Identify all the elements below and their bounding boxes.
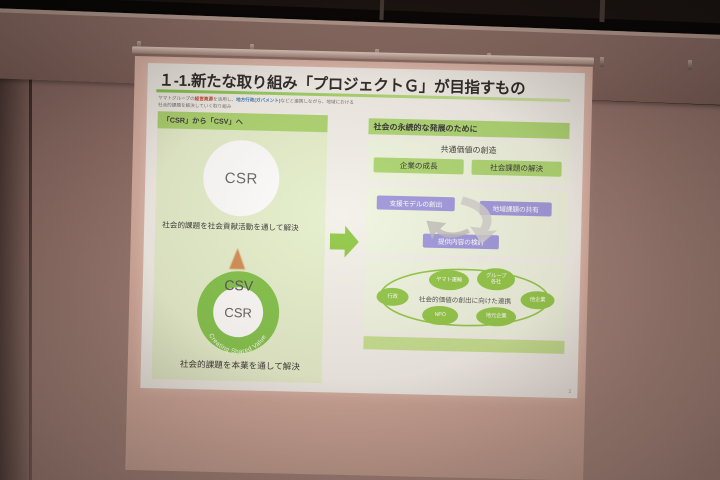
wall-seam — [29, 52, 32, 480]
network-node: NPO — [422, 306, 458, 326]
chip-corporate-growth: 企業の成長 — [373, 157, 463, 174]
csr-caption: 社会的課題を社会貢献活動を通して解決 — [162, 219, 322, 234]
csr-circle: CSR — [202, 139, 280, 217]
network-node: 他企業 — [520, 291, 554, 310]
projected-slide: １-1.新たな取り組み「プロジェクトＧ」が目指すもの ヤマトグループの経営資源を… — [140, 63, 585, 398]
csv-caption: 社会的課題を本業を通して解決 — [159, 357, 321, 373]
slide-lead-text: ヤマトグループの経営資源を活用し、地方行政(ガバメント)などと連携しながら、地域… — [158, 94, 354, 113]
process-box-regional-issues: 地域課題の共有 — [480, 201, 552, 217]
rail-clip — [688, 60, 692, 70]
process-box-service-review: 提供内容の検討 — [423, 234, 499, 250]
green-right-arrow-icon — [329, 224, 359, 259]
upward-arrow-icon — [229, 248, 245, 269]
network-nodes-layer: 社会的価値の創出に向けた連携 ヤマト運輸グループ各社行政他企業NPO地元企業 — [364, 259, 567, 337]
right-panel-footer-bar — [363, 336, 564, 354]
lead-text-part1: ヤマトグループの — [158, 95, 195, 101]
shared-value-title: 共通価値の創造 — [368, 142, 569, 158]
process-box-support-model: 支援モデルの創出 — [377, 195, 455, 211]
network-node: ヤマト運輸 — [429, 270, 469, 291]
rail-clip — [600, 57, 604, 67]
process-cycle-box: 支援モデルの創出 地域課題の共有 提供内容の検討 — [366, 186, 569, 258]
lead-text-highlight-1: 経営資源 — [195, 96, 214, 101]
left-panel-header: 「CSR」から「CSV」へ — [157, 111, 327, 132]
csr-to-csv-panel: 「CSR」から「CSV」へ CSR 社会的課題を社会貢献活動を通して解決 CSV… — [152, 111, 328, 383]
chip-social-issue-solution: 社会課題の解決 — [471, 160, 561, 177]
network-node: グループ各社 — [477, 268, 516, 291]
network-node: 行政 — [376, 287, 408, 306]
slide-page-number: 2 — [569, 389, 572, 395]
shared-value-creation-box: 共通価値の創造 企業の成長 社会課題の解決 — [367, 138, 569, 185]
svg-text:Creating Shared Value: Creating Shared Value — [207, 332, 268, 354]
conference-room-scene: １-1.新たな取り組み「プロジェクトＧ」が目指すもの ヤマトグループの経営資源を… — [0, 0, 720, 480]
wall-left-shadow — [0, 48, 30, 480]
lead-text-highlight-2: 地方行政(ガバメント) — [236, 97, 281, 103]
network-node: 地元企業 — [476, 307, 516, 327]
sustainable-development-banner: 社会の永続的な発展のために — [368, 118, 569, 139]
creating-shared-value-arc: Creating Shared Value — [196, 270, 280, 354]
lead-text-part2: を活用し、 — [213, 97, 236, 103]
